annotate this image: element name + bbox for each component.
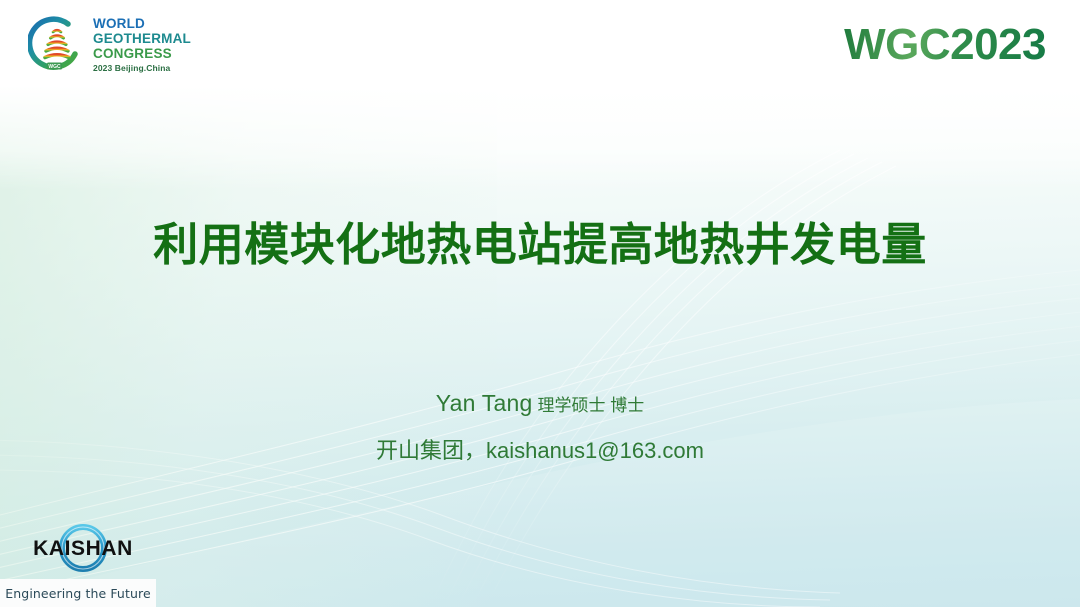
author-name-line: Yan Tang理学硕士 博士 (0, 390, 1080, 417)
event-mark: WGC2023 (844, 20, 1046, 70)
wgc-congress-logo: WGC WORLD GEOTHERMAL CONGRESS 2023 Beiji… (28, 14, 191, 76)
author-block: Yan Tang理学硕士 博士 开山集团，kaishanus1@163.com (0, 390, 1080, 465)
wgc-wordmark-line2: GEOTHERMAL (93, 32, 191, 46)
background-left-tint (0, 0, 497, 607)
emblem-badge-label: WGC (48, 64, 61, 70)
page-title: 利用模块化地热电站提高地热井发电量 (0, 208, 1080, 273)
wgc-wordmark-line3: CONGRESS (93, 47, 191, 61)
wgc-wordmark: WORLD GEOTHERMAL CONGRESS 2023 Beijing.C… (93, 17, 191, 73)
presentation-slide: WGC WORLD GEOTHERMAL CONGRESS 2023 Beiji… (0, 0, 1080, 607)
wgc-wordmark-line1: WORLD (93, 17, 191, 31)
kaishan-tagline: Engineering the Future (0, 579, 156, 607)
wgc-emblem-icon: WGC (28, 14, 86, 76)
kaishan-logo: KAISHAN (18, 523, 148, 573)
kaishan-logo-icon: KAISHAN (18, 523, 148, 573)
kaishan-wordmark: KAISHAN (33, 537, 133, 560)
author-degrees: 理学硕士 博士 (537, 396, 644, 415)
wgc-wordmark-subtitle: 2023 Beijing.China (93, 64, 191, 73)
background-waves (0, 0, 1080, 607)
author-affiliation: 开山集团，kaishanus1@163.com (0, 433, 1080, 465)
author-name: Yan Tang (436, 390, 533, 416)
